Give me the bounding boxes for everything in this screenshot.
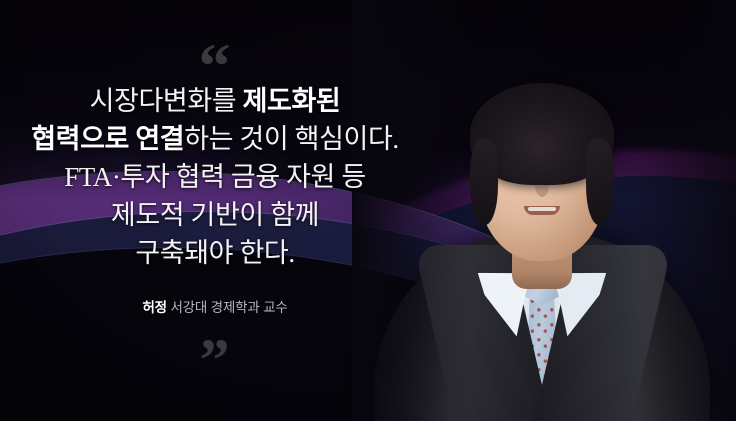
quote-segment: FTA·투자 협력 금융 자원 등: [64, 162, 366, 192]
attribution: 허정 서강대 경제학과 교수: [0, 296, 430, 316]
quote-segment: 하는 것이 핵심이다.: [184, 124, 399, 154]
quote-card: “ 시장다변화를 제도화된협력으로 연결하는 것이 핵심이다.FTA·투자 협력…: [0, 0, 736, 421]
quote-text-lines: 시장다변화를 제도화된협력으로 연결하는 것이 핵심이다.FTA·투자 협력 금…: [0, 82, 430, 272]
quote-segment-emphasis: 협력으로 연결: [31, 124, 184, 154]
quote-line: 제도적 기반이 함께: [0, 196, 430, 234]
quote-segment-emphasis: 제도화된: [243, 86, 341, 116]
portrait-hair-left: [470, 139, 498, 225]
quote-content: “ 시장다변화를 제도화된협력으로 연결하는 것이 핵심이다.FTA·투자 협력…: [0, 0, 430, 421]
portrait-photo: [392, 0, 692, 421]
portrait-hair-right: [586, 139, 614, 225]
quote-segment: 시장다변화를: [90, 86, 243, 116]
quote-segment: 구축돼야 한다.: [135, 238, 294, 268]
quote-line: 협력으로 연결하는 것이 핵심이다.: [0, 120, 430, 158]
portrait-teeth: [528, 207, 556, 211]
quote-close-mark: ”: [0, 330, 430, 390]
quote-segment: 제도적 기반이 함께: [111, 200, 319, 230]
quote-line: FTA·투자 협력 금융 자원 등: [0, 158, 430, 196]
portrait-edge-fade-right: [642, 0, 736, 421]
quote-line: 시장다변화를 제도화된: [0, 82, 430, 120]
attribution-role: 서강대 경제학과 교수: [170, 300, 287, 315]
quote-line: 구축돼야 한다.: [0, 234, 430, 272]
attribution-name: 허정: [142, 300, 166, 315]
